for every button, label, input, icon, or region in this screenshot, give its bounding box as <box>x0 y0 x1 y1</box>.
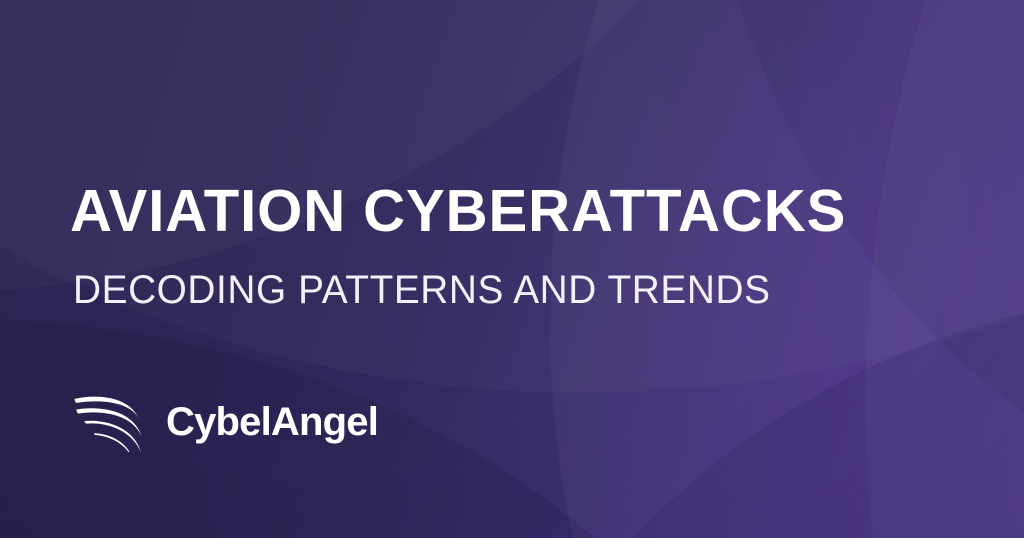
brand-wordmark: CybelAngel <box>166 402 378 442</box>
banner-title: AVIATION CYBERATTACKS <box>70 182 846 241</box>
banner-content: AVIATION CYBERATTACKS DECODING PATTERNS … <box>0 0 1024 538</box>
brand-logo-lockup: CybelAngel <box>72 390 378 452</box>
aviation-cyberattacks-banner: AVIATION CYBERATTACKS DECODING PATTERNS … <box>0 0 1024 538</box>
wing-icon <box>72 390 148 452</box>
banner-subtitle: DECODING PATTERNS AND TRENDS <box>73 270 771 310</box>
